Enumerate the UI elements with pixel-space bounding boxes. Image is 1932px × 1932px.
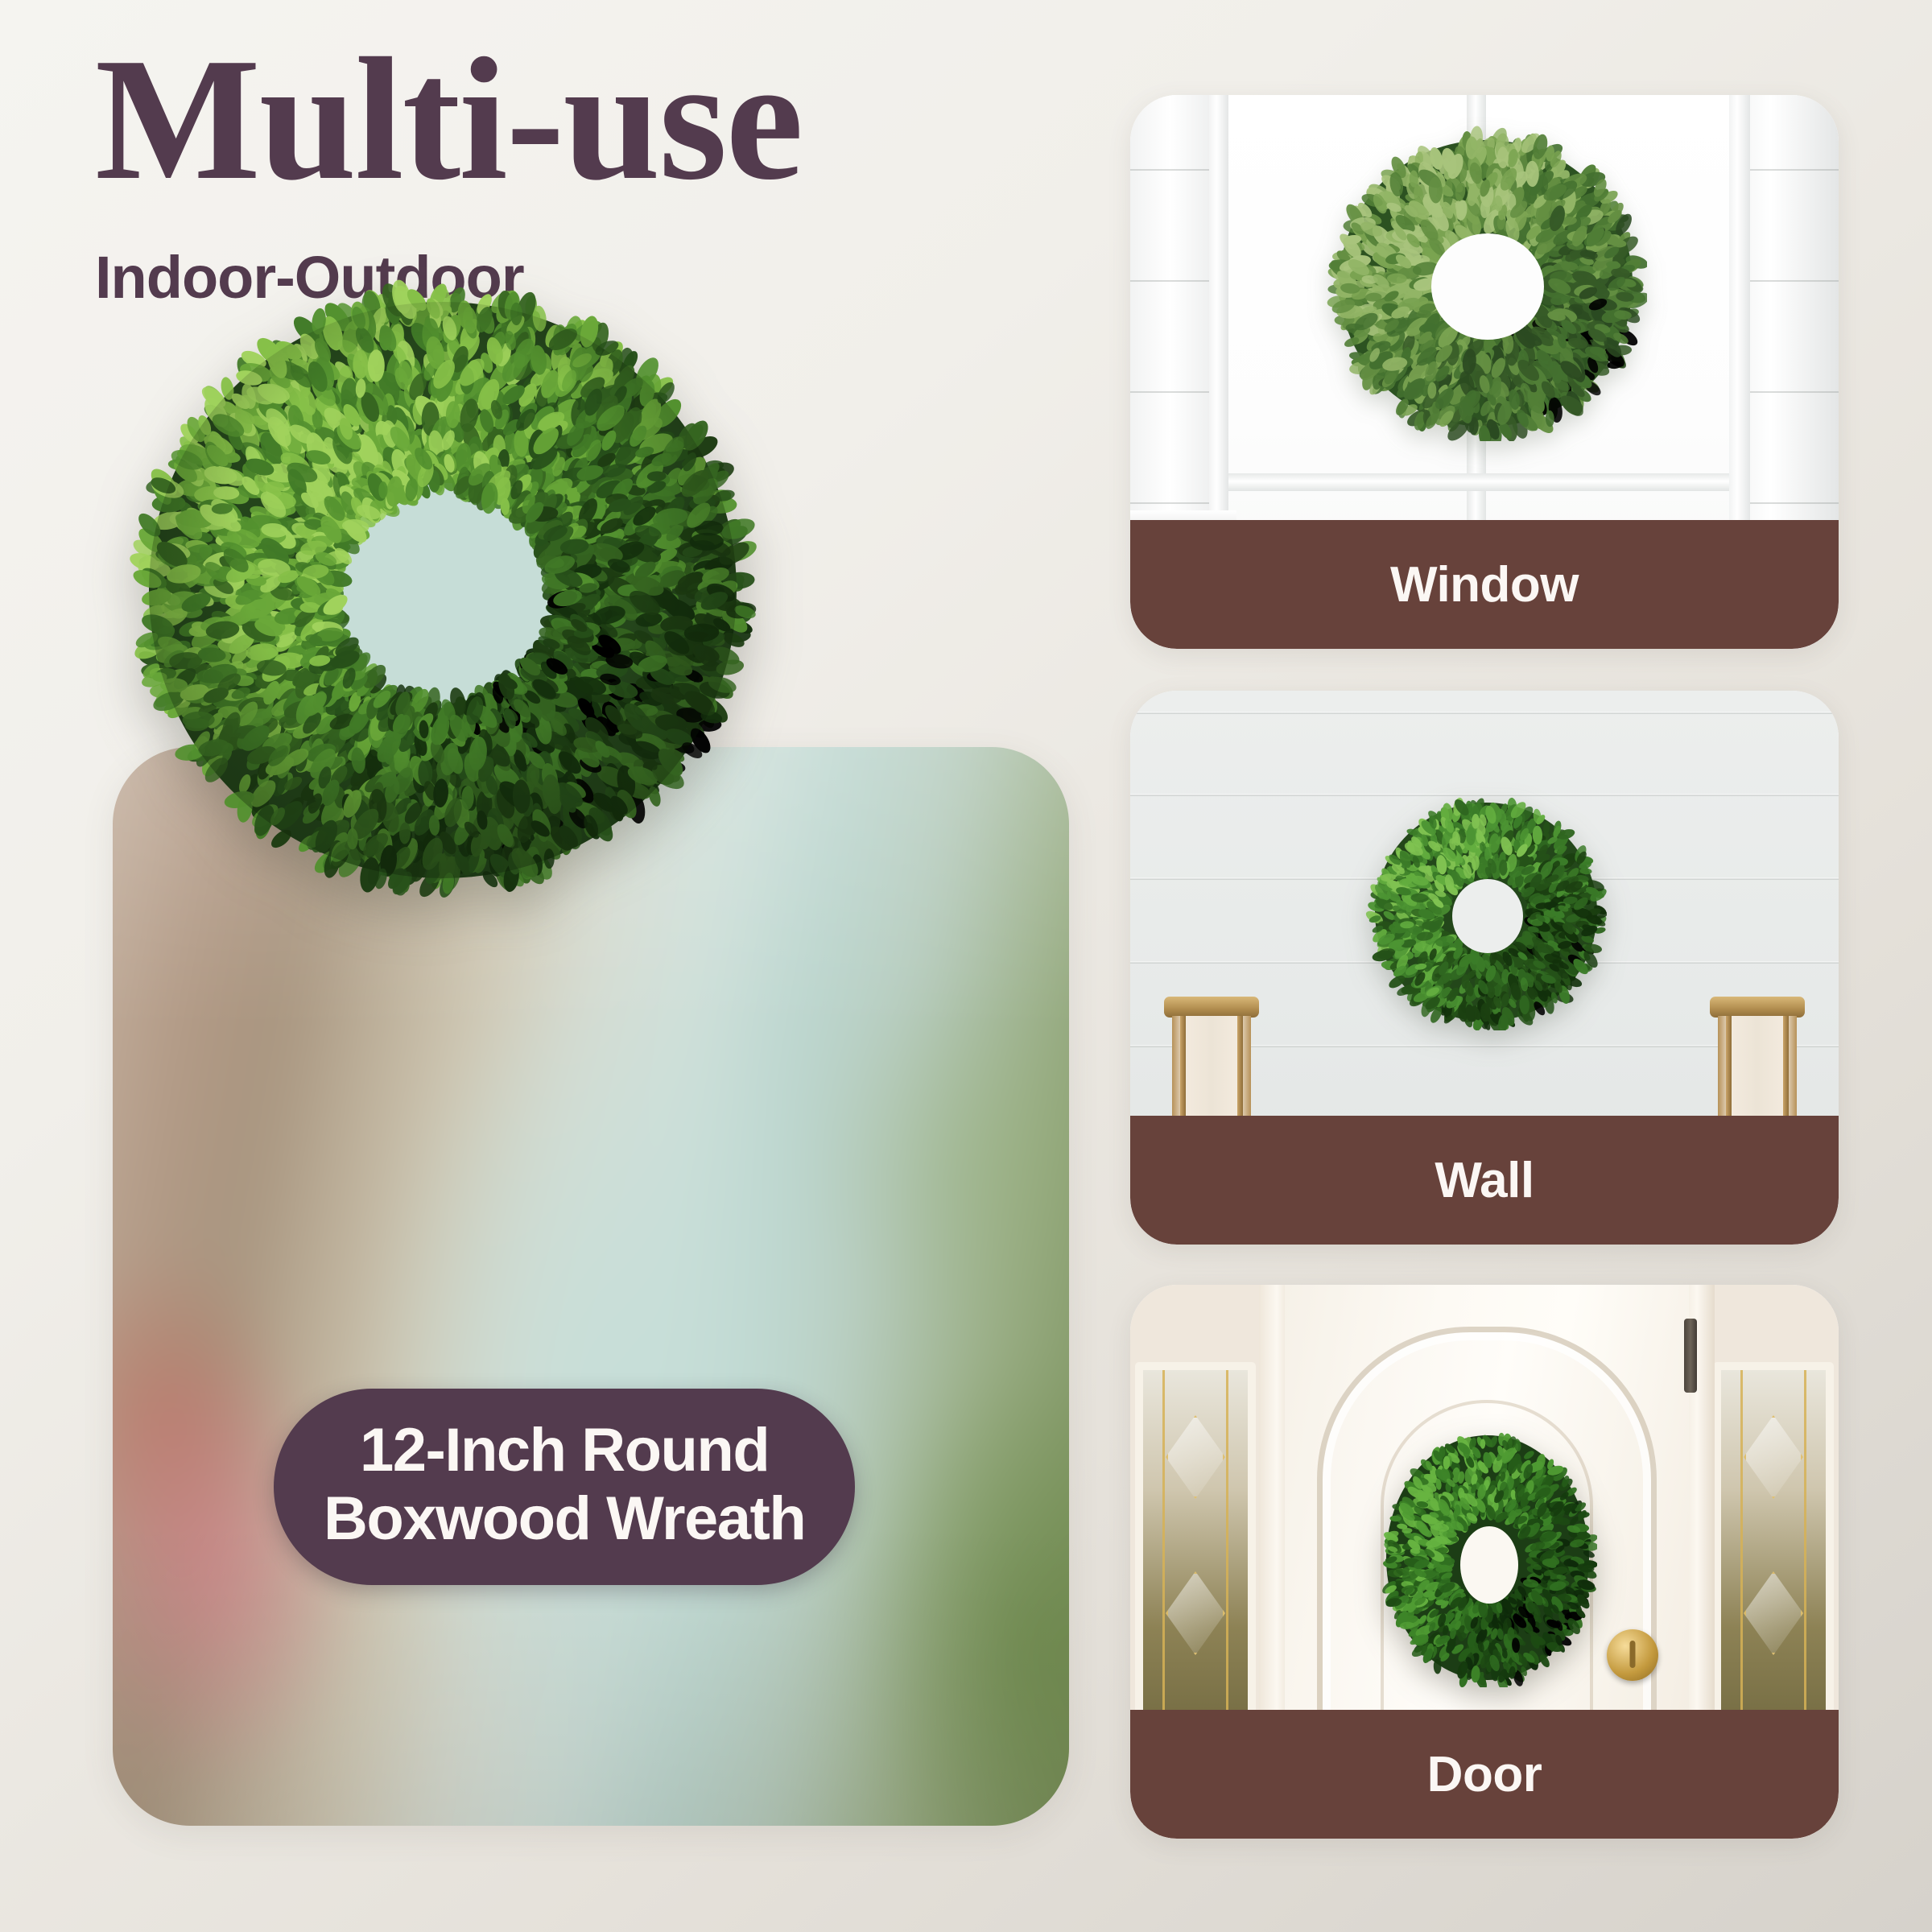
badge-line-2: Boxwood Wreath bbox=[324, 1484, 805, 1553]
hero-sheen-overlay bbox=[113, 747, 1069, 1826]
lantern-right bbox=[1710, 997, 1805, 1117]
scene-label-wall: Wall bbox=[1130, 1116, 1839, 1245]
hero-wreath-image bbox=[121, 272, 765, 908]
product-name-badge: 12-Inch Round Boxwood Wreath bbox=[274, 1389, 855, 1585]
scene-card-door[interactable]: Door bbox=[1130, 1285, 1839, 1839]
wreath-on-window bbox=[1325, 126, 1647, 441]
page-title: Multi-use bbox=[95, 34, 1093, 206]
scene-label-window: Window bbox=[1130, 520, 1839, 649]
hero-product-card bbox=[113, 747, 1069, 1826]
scene-card-window[interactable]: Window bbox=[1130, 95, 1839, 649]
badge-line-1: 12-Inch Round bbox=[324, 1416, 805, 1484]
scene-card-wall[interactable]: Wall bbox=[1130, 691, 1839, 1245]
door-deadbolt bbox=[1607, 1629, 1658, 1681]
wreath-on-door bbox=[1378, 1428, 1597, 1687]
headline-block: Multi-use Indoor-Outdoor bbox=[95, 34, 1093, 312]
scene-label-door: Door bbox=[1130, 1710, 1839, 1839]
wreath-on-wall bbox=[1365, 794, 1607, 1030]
lantern-left bbox=[1164, 997, 1259, 1117]
